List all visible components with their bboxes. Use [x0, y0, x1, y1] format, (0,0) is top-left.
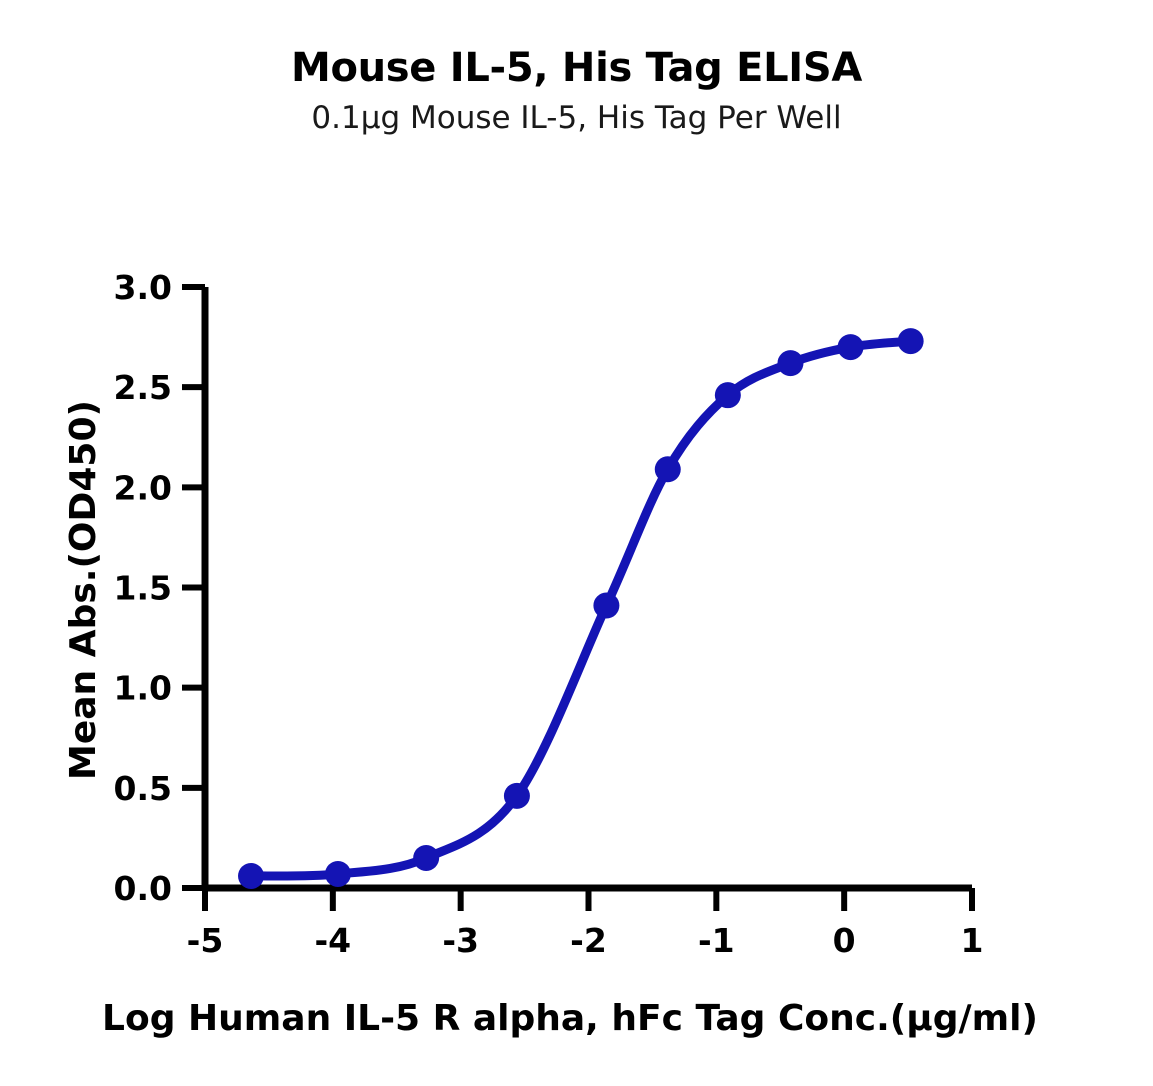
y-tick-label: 0.0: [114, 869, 172, 908]
y-axis-title: Mean Abs.(OD450): [63, 400, 104, 780]
data-point-marker: [238, 863, 264, 889]
plot-area: Mean Abs.(OD450) Log Human IL-5 R alpha,…: [0, 0, 1153, 1086]
data-point-marker: [325, 861, 351, 887]
data-point-marker: [777, 350, 803, 376]
y-tick-label: 1.5: [114, 569, 172, 608]
data-point-marker: [655, 456, 681, 482]
x-tick-label: -1: [698, 921, 735, 960]
data-point-marker: [504, 783, 530, 809]
x-tick-label: 0: [833, 921, 856, 960]
data-point-marker: [898, 328, 924, 354]
series-marker-group: [238, 328, 924, 889]
y-tick-label: 2.0: [114, 468, 172, 507]
data-point-marker: [715, 382, 741, 408]
y-tick-label: 0.5: [114, 769, 172, 808]
elisa-chart-figure: Mouse IL-5, His Tag ELISA 0.1μg Mouse IL…: [0, 0, 1153, 1086]
data-point-marker: [838, 334, 864, 360]
y-tick-label: 1.0: [114, 669, 172, 708]
y-tick-label: 2.5: [114, 368, 172, 407]
x-axis-title: Log Human IL-5 R alpha, hFc Tag Conc.(μg…: [102, 998, 1038, 1039]
x-tick-group: -5-4-3-2-101: [187, 888, 984, 960]
x-tick-label: -4: [314, 921, 351, 960]
data-point-marker: [593, 593, 619, 619]
data-point-marker: [413, 845, 439, 871]
x-tick-label: -3: [442, 921, 479, 960]
x-tick-label: -5: [187, 921, 224, 960]
series-line-od450: [251, 341, 911, 876]
x-tick-label: 1: [961, 921, 984, 960]
y-tick-label: 3.0: [114, 268, 172, 307]
x-tick-label: -2: [570, 921, 607, 960]
y-tick-group: 0.00.51.01.52.02.53.0: [114, 268, 205, 908]
